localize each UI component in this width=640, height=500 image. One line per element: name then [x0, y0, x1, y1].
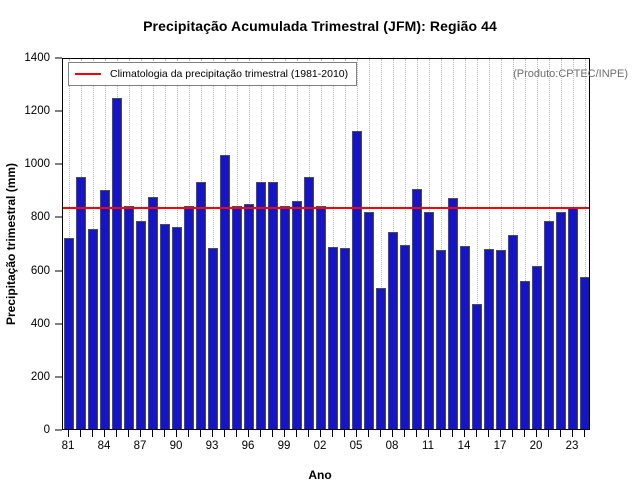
- x-tick-mark: [452, 430, 453, 437]
- x-tick-label: 93: [206, 440, 219, 452]
- y-tick-label: 800: [31, 211, 50, 223]
- x-tick-mark: [440, 430, 441, 437]
- x-tick-label: 11: [422, 440, 434, 452]
- x-tick-label: 81: [62, 440, 75, 452]
- plot-area: [62, 58, 590, 430]
- x-tick-mark: [152, 430, 153, 437]
- legend-label: Climatologia da precipitação trimestral …: [110, 68, 348, 80]
- x-tick-mark: [80, 430, 81, 437]
- x-tick-mark: [308, 430, 309, 437]
- x-tick-label: 96: [242, 440, 255, 452]
- x-axis-title: Ano: [0, 468, 640, 482]
- legend-line-swatch: [75, 73, 101, 75]
- chart-title: Precipitação Acumulada Trimestral (JFM):…: [0, 18, 640, 34]
- precipitation-bar-chart: Precipitação Acumulada Trimestral (JFM):…: [0, 0, 640, 500]
- y-tick-mark: [55, 430, 62, 431]
- x-tick-label: 14: [458, 440, 471, 452]
- x-tick-mark: [572, 430, 573, 437]
- x-tick-mark: [356, 430, 357, 437]
- climatology-line-layer: [63, 59, 589, 429]
- x-tick-label: 90: [170, 440, 183, 452]
- x-tick-label: 08: [386, 440, 399, 452]
- x-tick-label: 17: [494, 440, 507, 452]
- x-tick-mark: [188, 430, 189, 437]
- x-tick-mark: [212, 430, 213, 437]
- x-tick-mark: [128, 430, 129, 437]
- x-tick-mark: [296, 430, 297, 437]
- y-tick-mark: [55, 323, 62, 324]
- x-tick-mark: [404, 430, 405, 437]
- y-tick-label: 400: [31, 318, 50, 330]
- x-tick-mark: [260, 430, 261, 437]
- producer-annotation: (Produto:CPTEC/INPE): [513, 68, 628, 80]
- x-tick-label: 23: [566, 440, 579, 452]
- x-tick-mark: [488, 430, 489, 437]
- x-tick-mark: [500, 430, 501, 437]
- x-tick-mark: [524, 430, 525, 437]
- y-tick-label: 1000: [24, 158, 50, 170]
- y-tick-mark: [55, 164, 62, 165]
- y-tick-label: 0: [44, 424, 50, 436]
- x-tick-mark: [104, 430, 105, 437]
- x-tick-mark: [68, 430, 69, 437]
- x-tick-mark: [392, 430, 393, 437]
- y-tick-mark: [55, 58, 62, 59]
- x-tick-mark: [92, 430, 93, 437]
- x-tick-mark: [248, 430, 249, 437]
- y-tick-label: 1200: [24, 105, 50, 117]
- x-tick-mark: [176, 430, 177, 437]
- x-tick-label: 05: [350, 440, 363, 452]
- climatology-reference-line: [63, 207, 589, 209]
- y-tick-label: 200: [31, 371, 50, 383]
- y-tick-label: 600: [31, 265, 50, 277]
- x-tick-mark: [512, 430, 513, 437]
- legend: Climatologia da precipitação trimestral …: [68, 62, 357, 86]
- x-tick-mark: [560, 430, 561, 437]
- y-axis-title: Precipitação trimestral (mm): [4, 58, 22, 430]
- x-tick-mark: [224, 430, 225, 437]
- x-tick-mark: [476, 430, 477, 437]
- x-tick-mark: [320, 430, 321, 437]
- x-tick-mark: [536, 430, 537, 437]
- y-tick-mark: [55, 111, 62, 112]
- x-tick-mark: [272, 430, 273, 437]
- x-tick-mark: [344, 430, 345, 437]
- x-tick-mark: [200, 430, 201, 437]
- x-tick-mark: [428, 430, 429, 437]
- x-tick-mark: [164, 430, 165, 437]
- x-tick-mark: [332, 430, 333, 437]
- x-tick-label: 84: [98, 440, 111, 452]
- y-tick-mark: [55, 270, 62, 271]
- x-tick-mark: [236, 430, 237, 437]
- x-tick-mark: [140, 430, 141, 437]
- x-tick-label: 99: [278, 440, 291, 452]
- x-tick-label: 87: [134, 440, 147, 452]
- x-tick-mark: [548, 430, 549, 437]
- y-tick-label: 1400: [24, 52, 50, 64]
- x-tick-mark: [284, 430, 285, 437]
- x-tick-label: 20: [530, 440, 543, 452]
- x-tick-mark: [416, 430, 417, 437]
- x-tick-label: 02: [314, 440, 327, 452]
- x-tick-mark: [380, 430, 381, 437]
- y-tick-mark: [55, 217, 62, 218]
- y-tick-mark: [55, 376, 62, 377]
- x-tick-mark: [116, 430, 117, 437]
- x-axis: 818487909396990205081114172023: [62, 430, 590, 460]
- x-tick-mark: [368, 430, 369, 437]
- x-tick-mark: [464, 430, 465, 437]
- x-tick-mark: [584, 430, 585, 437]
